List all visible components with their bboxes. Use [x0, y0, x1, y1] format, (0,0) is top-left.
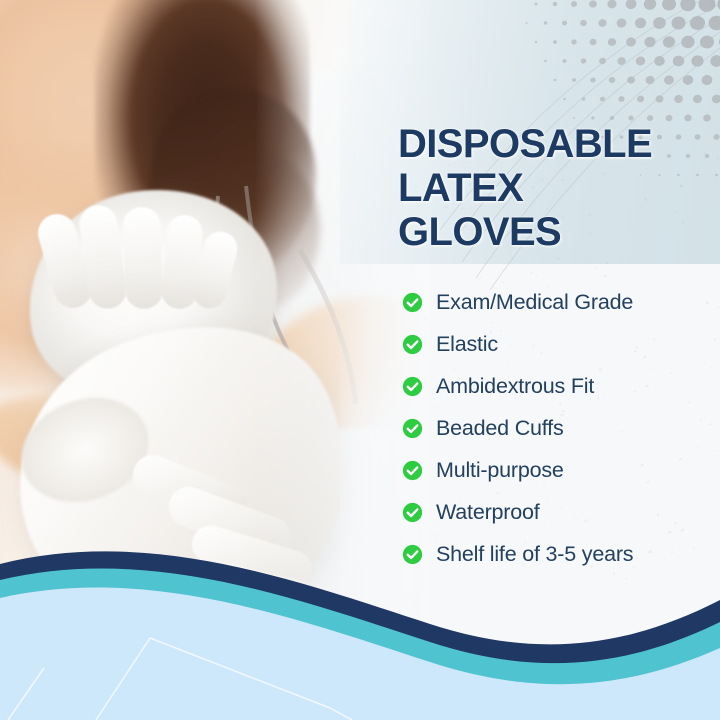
check-circle-icon [402, 460, 423, 481]
page-title: DISPOSABLE LATEX GLOVES [398, 122, 720, 254]
feature-item: Elastic [402, 323, 720, 365]
check-circle-icon [402, 376, 423, 397]
feature-label: Elastic [436, 332, 498, 356]
glove-upper-fingers [40, 205, 255, 325]
headline-line-1: DISPOSABLE [398, 122, 720, 166]
feature-label: Exam/Medical Grade [436, 290, 633, 314]
headline-line-2: LATEX [398, 166, 720, 210]
feature-item: Ambidextrous Fit [402, 365, 720, 407]
check-circle-icon [402, 292, 423, 313]
check-circle-icon [402, 418, 423, 439]
feature-label: Beaded Cuffs [436, 416, 564, 440]
headline-line-3: GLOVES [398, 210, 720, 254]
bottom-wave-decoration [0, 520, 720, 720]
feature-label: Ambidextrous Fit [436, 374, 594, 398]
feature-item: Exam/Medical Grade [402, 281, 720, 323]
feature-item: Beaded Cuffs [402, 407, 720, 449]
feature-item: Multi-purpose [402, 449, 720, 491]
advertisement-banner: DISPOSABLE LATEX GLOVES Exam/Medical Gra… [0, 0, 720, 720]
feature-label: Multi-purpose [436, 458, 564, 482]
check-circle-icon [402, 334, 423, 355]
